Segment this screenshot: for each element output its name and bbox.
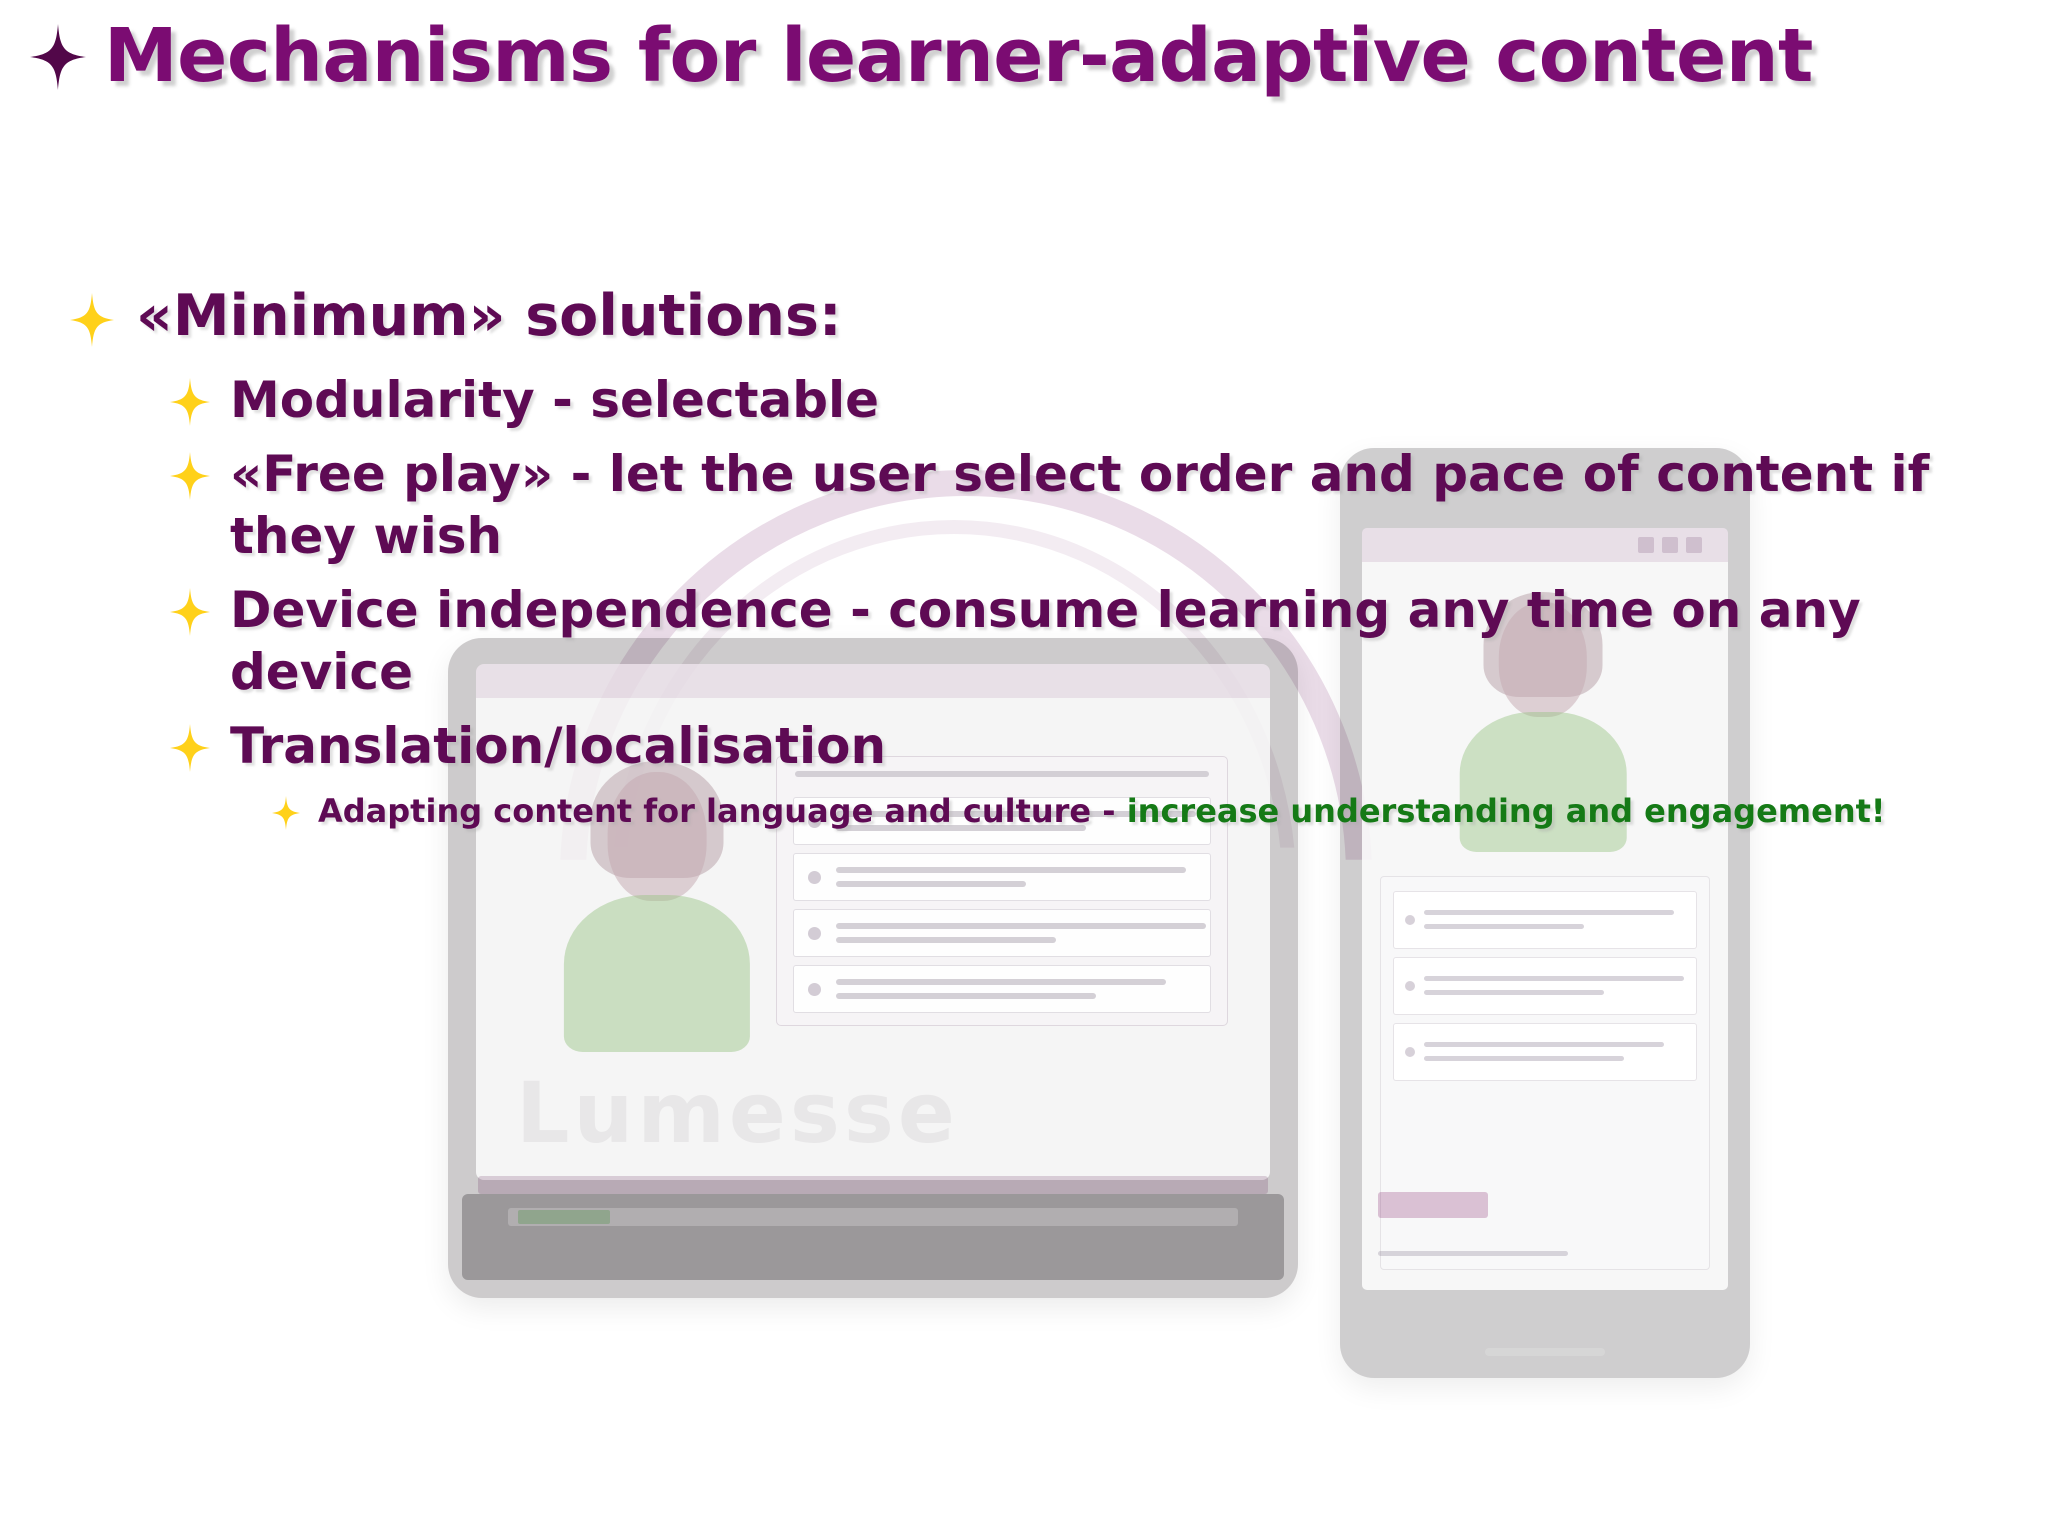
bullet-level1-minimum-solutions: «Minimum» solutions:: [70, 285, 2048, 349]
bullet-level3-adapting-content: Adapting content for language and cultur…: [272, 791, 2048, 833]
phone-row-line: [1424, 1042, 1664, 1047]
avatar-body: [564, 895, 750, 1052]
bullet-list: «Minimum» solutions: Modularity - select…: [0, 285, 2048, 832]
phone-footer-line: [1378, 1251, 1568, 1256]
phone-home-indicator: [1485, 1348, 1605, 1356]
laptop-base: [462, 1194, 1284, 1280]
phone-row-line: [1424, 976, 1684, 981]
phone-row-bullet-icon: [1405, 1047, 1415, 1057]
panel-row-bullet-icon: [808, 871, 821, 884]
bullet-text-normal: Adapting content for language and cultur…: [318, 792, 1127, 830]
bullet-level2-free-play: «Free play» - let the user select order …: [170, 443, 2048, 567]
bullet-text: Modularity - selectable: [230, 369, 879, 431]
panel-row-bullet-icon: [808, 983, 821, 996]
bullet-level2-modularity: Modularity - selectable: [170, 369, 2048, 431]
panel-row-line: [836, 979, 1166, 985]
phone-content-list: [1380, 876, 1710, 1270]
phone-row-line: [1424, 924, 1584, 929]
phone-row-line: [1424, 1056, 1624, 1061]
phone-row-bullet-icon: [1405, 981, 1415, 991]
panel-row: [793, 853, 1211, 901]
sparkle-icon: [70, 293, 114, 347]
panel-row-bullet-icon: [808, 927, 821, 940]
phone-list-row: [1393, 1023, 1697, 1081]
sparkle-icon: [272, 796, 300, 830]
bullet-text: Translation/localisation: [230, 715, 886, 777]
phone-list-row: [1393, 891, 1697, 949]
panel-row: [793, 909, 1211, 957]
slide-canvas: Lumesse: [0, 0, 2048, 1536]
sparkle-icon: [30, 24, 86, 90]
laptop-keyboard-strip: [508, 1208, 1238, 1226]
bullet-text: «Minimum» solutions:: [136, 285, 842, 349]
phone-list-row: [1393, 957, 1697, 1015]
sparkle-icon: [170, 378, 210, 426]
bullet-text: Device independence - consume learning a…: [230, 579, 2040, 703]
panel-row-line: [836, 993, 1096, 999]
bullet-text-highlight: increase understanding and engagement!: [1127, 792, 1886, 830]
phone-row-line: [1424, 990, 1604, 995]
laptop-status-bar: [518, 1210, 610, 1224]
panel-row-line: [836, 867, 1186, 873]
panel-row-line: [836, 937, 1056, 943]
page-title: Mechanisms for learner-adaptive content: [104, 18, 1813, 96]
bullet-text: «Free play» - let the user select order …: [230, 443, 2040, 567]
bullet-level2-translation-localisation: Translation/localisation: [170, 715, 2048, 777]
laptop-chin: [478, 1176, 1268, 1194]
bullet-level2-device-independence: Device independence - consume learning a…: [170, 579, 2048, 703]
sparkle-icon: [170, 724, 210, 772]
sparkle-icon: [170, 588, 210, 636]
phone-row-line: [1424, 910, 1674, 915]
phone-row-bullet-icon: [1405, 915, 1415, 925]
panel-row-line: [836, 881, 1026, 887]
slide-title-row: Mechanisms for learner-adaptive content: [30, 18, 2008, 96]
phone-primary-button: [1378, 1192, 1488, 1218]
sparkle-icon: [170, 452, 210, 500]
panel-row-line: [836, 923, 1206, 929]
laptop-watermark-word: Lumesse: [516, 1064, 959, 1162]
panel-row: [793, 965, 1211, 1013]
bullet-text-container: Adapting content for language and cultur…: [318, 791, 1885, 833]
